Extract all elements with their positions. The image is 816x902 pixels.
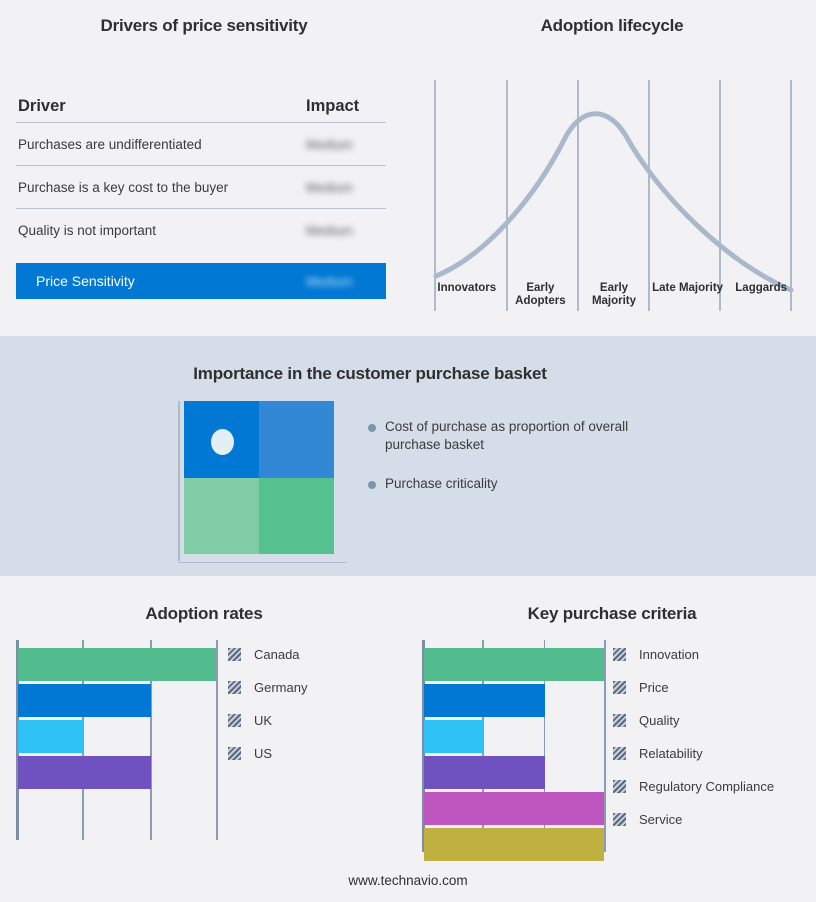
lifecycle-stage-labels: Innovators Early Adopters Early Majority…: [430, 282, 798, 308]
adoption-bell-curve: [436, 114, 791, 290]
hatch-swatch-icon: [228, 648, 241, 661]
adoption-rates-chart: [16, 640, 216, 840]
legend-label: US: [254, 746, 272, 761]
lifecycle-stage-innovators: Innovators: [430, 282, 504, 308]
lifecycle-chart: Innovators Early Adopters Early Majority…: [430, 78, 798, 313]
legend-label: UK: [254, 713, 272, 728]
impact-value: Medium: [306, 180, 384, 195]
legend-item: Germany: [228, 671, 403, 704]
hatch-swatch-icon: [613, 813, 626, 826]
legend-item: Quality: [613, 704, 816, 737]
bar-uk: [18, 720, 83, 753]
bar-germany: [18, 684, 151, 717]
impact-value: Medium: [306, 223, 384, 238]
hatch-swatch-icon: [228, 747, 241, 760]
top-section: Drivers of price sensitivity Driver Impa…: [0, 0, 816, 336]
table-row: Purchase is a key cost to the buyer Medi…: [16, 166, 386, 209]
bar-service: [424, 828, 604, 861]
criteria-legend: Innovation Price Quality Relatability Re…: [613, 638, 816, 836]
chart-gridline: [216, 640, 218, 840]
key-purchase-criteria-chart: [422, 640, 604, 852]
table-header-row: Driver Impact: [16, 90, 386, 123]
legend-item: UK: [228, 704, 403, 737]
bar-innovation: [424, 648, 604, 681]
purchase-basket-section: Importance in the customer purchase bask…: [0, 336, 816, 576]
legend-label: Quality: [639, 713, 679, 728]
legend-item: Innovation: [613, 638, 816, 671]
legend-item: US: [228, 737, 403, 770]
hatch-swatch-icon: [228, 681, 241, 694]
lifecycle-panel-title: Adoption lifecycle: [408, 16, 816, 36]
bullet-dot-icon: [368, 481, 376, 489]
basket-panel-title: Importance in the customer purchase bask…: [0, 364, 740, 384]
bullet-dot-icon: [368, 424, 376, 432]
hatch-swatch-icon: [613, 681, 626, 694]
criteria-panel-title: Key purchase criteria: [408, 604, 816, 624]
hatch-swatch-icon: [228, 714, 241, 727]
impact-value: Medium: [306, 137, 384, 152]
legend-item: Service: [613, 803, 816, 836]
adoption-rates-panel: Adoption rates Canada Germany UK: [0, 576, 408, 902]
quadrant-y-axis: [178, 401, 180, 561]
adoption-legend: Canada Germany UK US: [228, 638, 403, 770]
legend-item: Regulatory Compliance: [613, 770, 816, 803]
lifecycle-stage-early-adopters: Early Adopters: [504, 282, 578, 308]
lifecycle-stage-laggards: Laggards: [724, 282, 798, 308]
quadrant-data-point: [211, 429, 234, 455]
footer-url: www.technavio.com: [0, 873, 816, 888]
legend-label: Relatability: [639, 746, 703, 761]
legend-label: Innovation: [639, 647, 699, 662]
basket-legend: Cost of purchase as proportion of overal…: [368, 418, 668, 514]
bottom-section: Adoption rates Canada Germany UK: [0, 576, 816, 902]
quadrant-grid: [184, 401, 334, 554]
lifecycle-stage-early-majority: Early Majority: [577, 282, 651, 308]
legend-label: Purchase criticality: [385, 475, 498, 493]
adoption-lifecycle-panel: Adoption lifecycle Innovators Ear: [408, 0, 816, 336]
bar-relatability: [424, 756, 545, 789]
legend-item: Price: [613, 671, 816, 704]
adoption-plot-area: [16, 640, 216, 840]
lifecycle-gridlines: [435, 80, 791, 311]
bar-regulatory-compliance: [424, 792, 604, 825]
hatch-swatch-icon: [613, 780, 626, 793]
legend-item: Cost of purchase as proportion of overal…: [368, 418, 668, 454]
column-header-driver: Driver: [18, 97, 306, 116]
bar-quality: [424, 720, 483, 753]
adoption-panel-title: Adoption rates: [0, 604, 408, 624]
legend-label: Germany: [254, 680, 307, 695]
legend-label: Cost of purchase as proportion of overal…: [385, 418, 635, 454]
purchase-basket-quadrant-chart: [178, 401, 346, 569]
chart-gridline: [604, 640, 606, 852]
driver-label: Purchase is a key cost to the buyer: [18, 180, 306, 195]
summary-label: Price Sensitivity: [36, 273, 306, 289]
lifecycle-stage-late-majority: Late Majority: [651, 282, 725, 308]
bar-price: [424, 684, 545, 717]
table-row: Purchases are undifferentiated Medium: [16, 123, 386, 166]
drivers-table: Driver Impact Purchases are undifferenti…: [16, 90, 386, 299]
criteria-plot-area: [422, 640, 604, 852]
bar-us: [18, 756, 151, 789]
legend-item: Purchase criticality: [368, 475, 668, 493]
legend-label: Regulatory Compliance: [639, 779, 774, 794]
quadrant-bottom-left: [184, 478, 259, 555]
key-purchase-criteria-panel: Key purchase criteria Innovation Price Q…: [408, 576, 816, 902]
summary-impact-value: Medium: [306, 274, 384, 289]
infographic-page: Drivers of price sensitivity Driver Impa…: [0, 0, 816, 902]
hatch-swatch-icon: [613, 648, 626, 661]
legend-label: Service: [639, 812, 682, 827]
drivers-panel-title: Drivers of price sensitivity: [0, 16, 408, 36]
legend-item: Canada: [228, 638, 403, 671]
legend-item: Relatability: [613, 737, 816, 770]
price-sensitivity-summary-row: Price Sensitivity Medium: [16, 263, 386, 299]
quadrant-x-axis: [178, 562, 346, 564]
table-row: Quality is not important Medium: [16, 209, 386, 252]
driver-label: Purchases are undifferentiated: [18, 137, 306, 152]
hatch-swatch-icon: [613, 714, 626, 727]
driver-label: Quality is not important: [18, 223, 306, 238]
legend-label: Price: [639, 680, 669, 695]
column-header-impact: Impact: [306, 97, 384, 116]
quadrant-bottom-right: [259, 478, 334, 555]
bar-canada: [18, 648, 216, 681]
drivers-of-price-sensitivity-panel: Drivers of price sensitivity Driver Impa…: [0, 0, 408, 336]
legend-label: Canada: [254, 647, 300, 662]
lifecycle-curve-svg: [430, 78, 798, 313]
hatch-swatch-icon: [613, 747, 626, 760]
quadrant-top-right: [259, 401, 334, 478]
